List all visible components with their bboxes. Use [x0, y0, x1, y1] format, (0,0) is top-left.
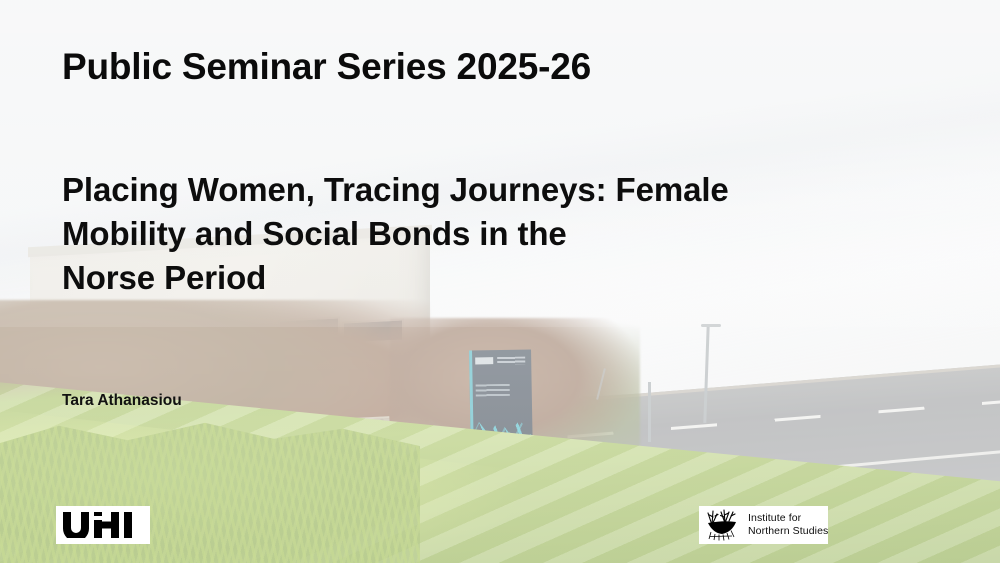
speaker-name: Tara Athanasiou [62, 392, 182, 410]
institute-name-line-2: Northern Studies [748, 525, 828, 538]
uhi-logo [56, 506, 150, 544]
seminar-slide: Public Seminar Series 2025-26 Placing Wo… [0, 0, 1000, 563]
institute-name: Institute for Northern Studies [748, 512, 828, 538]
slide-title: Placing Women, Tracing Journeys: Female … [62, 168, 872, 300]
longship-icon [704, 508, 744, 542]
slide-title-line-3: Norse Period [62, 256, 872, 300]
series-kicker: Public Seminar Series 2025-26 [62, 46, 591, 88]
slide-title-line-1: Placing Women, Tracing Journeys: Female [62, 168, 872, 212]
slide-title-line-2: Mobility and Social Bonds in the [62, 212, 872, 256]
uhi-wordmark-icon [63, 512, 143, 538]
slide-content: Public Seminar Series 2025-26 Placing Wo… [0, 0, 1000, 563]
institute-name-line-1: Institute for [748, 512, 828, 525]
institute-for-northern-studies-logo: Institute for Northern Studies [699, 506, 828, 544]
